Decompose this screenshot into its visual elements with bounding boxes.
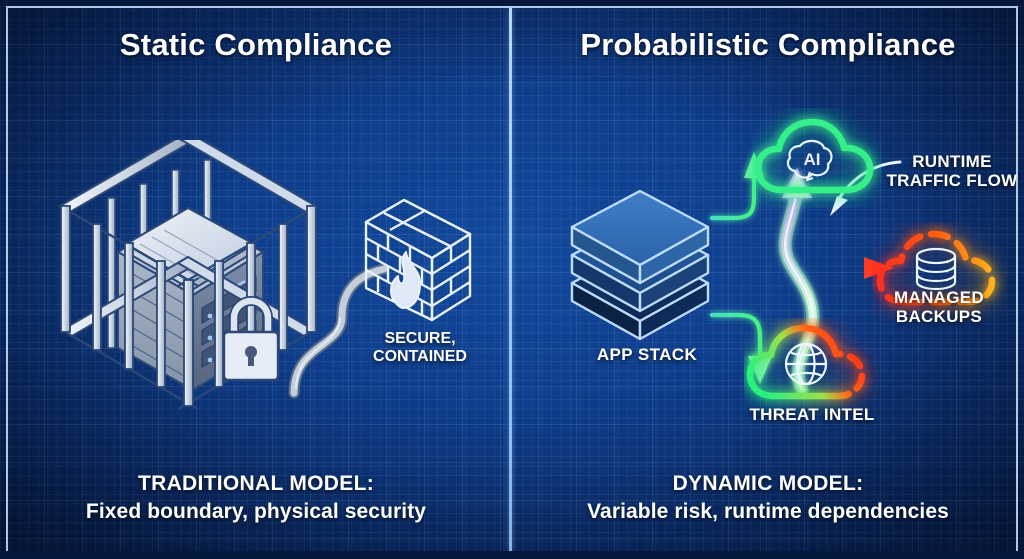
firewall-label-line1: SECURE, bbox=[330, 330, 510, 348]
threat-intel-label: THREAT INTEL bbox=[732, 405, 892, 424]
firewall-label: SECURE, CONTAINED bbox=[330, 330, 510, 366]
runtime-traffic-annotation: RUNTIME TRAFFIC FLOW bbox=[872, 152, 1024, 191]
flame-icon bbox=[391, 252, 420, 308]
infographic-canvas: Static Compliance bbox=[0, 0, 1024, 559]
globe-icon bbox=[786, 344, 826, 384]
runtime-annotation-line1: RUNTIME bbox=[872, 152, 1024, 171]
threat-intel-cloud-icon bbox=[744, 318, 879, 416]
managed-backups-label-line1: MANAGED bbox=[864, 288, 1014, 307]
bottom-letterbox-bar bbox=[0, 551, 1024, 559]
caption-left-line1: TRADITIONAL MODEL: bbox=[0, 472, 512, 496]
caption-left-line2: Fixed boundary, physical security bbox=[0, 500, 512, 524]
caption-right-line1: DYNAMIC MODEL: bbox=[512, 472, 1024, 496]
managed-backups-label-line2: BACKUPS bbox=[864, 307, 1014, 326]
page-title-left: Static Compliance bbox=[0, 27, 512, 63]
database-icon bbox=[917, 249, 955, 289]
panel-divider bbox=[509, 8, 512, 551]
firewall-label-line2: CONTAINED bbox=[330, 348, 510, 366]
top-letterbox-bar bbox=[0, 0, 1024, 6]
ai-cloud-icon: AI bbox=[752, 108, 882, 208]
managed-backups-label: MANAGED BACKUPS bbox=[864, 288, 1014, 327]
caption-right-line2: Variable risk, runtime dependencies bbox=[512, 500, 1024, 524]
ai-cloud-icon-text: AI bbox=[804, 150, 821, 169]
firewall-brick-wall-icon bbox=[358, 196, 478, 326]
panel-static-compliance: Static Compliance bbox=[0, 0, 512, 559]
runtime-annotation-line2: TRAFFIC FLOW bbox=[872, 171, 1024, 190]
page-title-right: Probabilistic Compliance bbox=[512, 27, 1024, 63]
panel-probabilistic-compliance: Probabilistic Compliance bbox=[512, 0, 1024, 559]
